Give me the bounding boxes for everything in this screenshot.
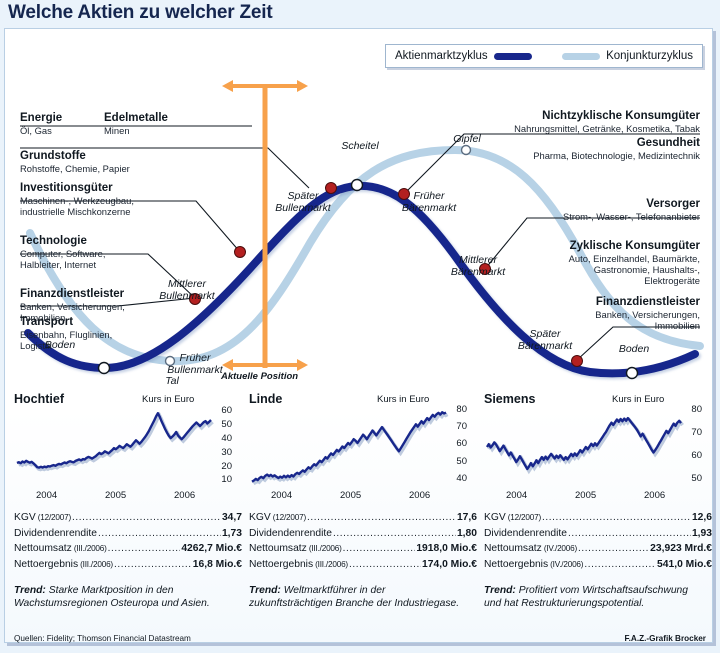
sector-technologie-head: Technologie [20, 235, 105, 248]
x-tick-label: 2006 [174, 490, 195, 501]
stock-chart-hochtief [14, 406, 214, 488]
stat-name: Dividendenrendite [14, 526, 97, 542]
stock-chart-siemens-xticks: 200420052006 [484, 490, 684, 504]
stat-qualifier: (III./2006) [72, 541, 107, 557]
stock-chart-hochtief-xticks: 200420052006 [14, 490, 214, 504]
y-tick-label: 10 [221, 475, 232, 484]
stat-dot-leader: ........................................… [584, 557, 656, 573]
stat-dot-leader: ........................................… [349, 557, 421, 573]
stock-line [487, 418, 681, 469]
stat-value: 541,0 Mio.€ [657, 557, 712, 573]
stat-name: Nettoumsatz [484, 541, 542, 557]
sector-grundstoffe-sub: Rohstoffe, Chemie, Papier [20, 163, 130, 174]
stat-row: KGV(12/2007)............................… [14, 510, 242, 526]
sector-transport-head: Transport [20, 316, 112, 329]
stat-value: 34,7 [222, 510, 242, 526]
phase-boden-left: Boden [30, 339, 90, 351]
sector-grundstoffe: Grundstoffe Rohstoffe, Chemie, Papier [20, 150, 130, 174]
stock-card-siemens-trend: Trend: Profitiert vom Wirtschaftsaufschw… [484, 584, 699, 610]
sector-energie-sub: Öl, Gas [20, 125, 62, 136]
sector-technologie-sub: Computer, Software, Halbleiter, Internet [20, 248, 105, 270]
stock-card-linde-axis-title: Kurs in Euro [377, 394, 429, 405]
stat-value: 1918,0 Mio.€ [416, 541, 477, 557]
stat-value: 12,6 [692, 510, 712, 526]
stat-dot-leader: ........................................… [108, 541, 181, 557]
y-tick-label: 50 [691, 474, 702, 483]
trend-label: Trend: [249, 585, 284, 596]
stock-card-linde-trend: Trend: Weltmarktführer in der zukunftstr… [249, 584, 464, 610]
sector-finanzdienstleister-right-head: Finanzdienstleister [400, 296, 700, 309]
y-tick-label: 50 [221, 420, 232, 429]
stat-dot-leader: ........................................… [578, 541, 649, 557]
y-tick-label: 40 [456, 474, 467, 483]
stock-card-linde-title: Linde [249, 392, 282, 406]
phase-boden-right: Boden [604, 343, 664, 355]
stat-row: Dividendenrendite.......................… [484, 526, 712, 542]
stat-dot-leader: ........................................… [343, 541, 416, 557]
sector-nichtzyklische: Nichtzyklische Konsumgüter Nahrungsmitte… [400, 110, 700, 134]
sector-investitionsgueter-head: Investitionsgüter [20, 182, 134, 195]
stat-row: Nettoergebnis(III./2006)................… [249, 557, 477, 573]
stock-chart-linde [249, 406, 449, 488]
sector-technologie: Technologie Computer, Software, Halbleit… [20, 235, 105, 270]
sector-edelmetalle-sub: Minen [104, 125, 168, 136]
y-tick-label: 30 [221, 448, 232, 457]
x-tick-label: 2004 [271, 490, 292, 501]
phase-mittlerer-baerenmarkt: Mittlerer Bärenmarkt [428, 254, 528, 278]
stat-dot-leader: ........................................… [114, 557, 192, 573]
x-tick-label: 2004 [36, 490, 57, 501]
stock-chart-siemens [484, 406, 684, 488]
y-tick-label: 80 [691, 405, 702, 414]
source-note: Quellen: Fidelity; Thomson Financial Dat… [14, 634, 191, 643]
trend-label: Trend: [14, 585, 49, 596]
stat-name: Dividendenrendite [249, 526, 332, 542]
stat-value: 23,923 Mrd.€ [650, 541, 712, 557]
stat-value: 1,73 [222, 526, 242, 542]
stat-value: 17,6 [457, 510, 477, 526]
phase-spaeter-baerenmarkt: Später Bärenmarkt [500, 328, 590, 352]
phase-frueher-baerenmarkt: Früher Bärenmarkt [384, 190, 474, 214]
stat-qualifier: (IV./2006) [542, 541, 577, 557]
stock-line-shadow [19, 415, 213, 469]
sector-edelmetalle: Edelmetalle Minen [104, 112, 168, 136]
stat-name: Nettoumsatz [249, 541, 307, 557]
stat-row: KGV(12/2007)............................… [249, 510, 477, 526]
phase-scheitel: Scheitel [325, 140, 395, 152]
credit-note: F.A.Z.-Grafik Brocker [625, 634, 706, 643]
sector-nichtzyklische-head: Nichtzyklische Konsumgüter [400, 110, 700, 123]
phase-gipfel: Gipfel [437, 133, 497, 145]
current-position-label: Aktuelle Position [221, 371, 298, 382]
stat-row: Nettoergebnis(IV./2006).................… [484, 557, 712, 573]
phase-mittlerer-bullenmarkt: Mittlerer Bullenmarkt [137, 278, 237, 302]
y-tick-label: 60 [221, 406, 232, 415]
phase-spaeter-bullenmarkt: Später Bullenmarkt [258, 190, 348, 214]
stat-row: Dividendenrendite.......................… [14, 526, 242, 542]
y-tick-label: 20 [221, 462, 232, 471]
stat-value: 174,0 Mio.€ [422, 557, 477, 573]
x-tick-label: 2006 [644, 490, 665, 501]
stock-card-siemens-axis-title: Kurs in Euro [612, 394, 664, 405]
sector-grundstoffe-head: Grundstoffe [20, 150, 130, 163]
stock-line-shadow [489, 420, 683, 471]
x-tick-label: 2005 [575, 490, 596, 501]
x-tick-label: 2005 [340, 490, 361, 501]
stat-dot-leader: ........................................… [307, 510, 456, 526]
x-tick-label: 2006 [409, 490, 430, 501]
stat-dot-leader: ........................................… [333, 526, 456, 542]
stock-card-hochtief-stats: KGV(12/2007)............................… [14, 510, 242, 572]
stat-name: Dividendenrendite [484, 526, 567, 542]
x-tick-label: 2005 [105, 490, 126, 501]
stock-card-hochtief-axis-title: Kurs in Euro [142, 394, 194, 405]
stat-dot-leader: ........................................… [568, 526, 691, 542]
phase-tal: Tal [152, 375, 192, 387]
trend-label: Trend: [484, 585, 519, 596]
sector-finanzdienstleister-left-head: Finanzdienstleister [20, 288, 125, 301]
stat-row: KGV(12/2007)............................… [484, 510, 712, 526]
stock-card-linde-stats: KGV(12/2007)............................… [249, 510, 477, 572]
y-tick-label: 50 [456, 457, 467, 466]
sector-zyklische-head: Zyklische Konsumgüter [400, 240, 700, 253]
stat-qualifier: (12/2007) [506, 510, 541, 526]
stat-name: Nettoergebnis [249, 557, 313, 573]
sector-investitionsgueter: Investitionsgüter Maschinen-, Werkzeugba… [20, 182, 134, 217]
stat-qualifier: (12/2007) [271, 510, 306, 526]
stat-value: 1,93 [692, 526, 712, 542]
y-tick-label: 70 [691, 428, 702, 437]
stat-row: Dividendenrendite.......................… [249, 526, 477, 542]
stat-qualifier: (III./2006) [313, 557, 348, 573]
sector-edelmetalle-head: Edelmetalle [104, 112, 168, 125]
stock-card-siemens-stats: KGV(12/2007)............................… [484, 510, 712, 572]
stat-dot-leader: ........................................… [98, 526, 221, 542]
stat-name: KGV [14, 510, 36, 526]
stat-value: 16,8 Mio.€ [193, 557, 242, 573]
stat-dot-leader: ........................................… [72, 510, 221, 526]
sector-gesundheit-sub: Pharma, Biotechnologie, Medizintechnik [400, 150, 700, 161]
y-tick-label: 80 [456, 405, 467, 414]
stat-row: Nettoumsatz(III./2006)..................… [249, 541, 477, 557]
stock-card-hochtief-trend: Trend: Starke Marktposition in den Wachs… [14, 584, 229, 610]
sector-energie: Energie Öl, Gas [20, 112, 62, 136]
y-tick-label: 70 [456, 422, 467, 431]
stat-row: Nettoumsatz(III./2006)..................… [14, 541, 242, 557]
stat-name: Nettoumsatz [14, 541, 72, 557]
stock-chart-linde-xticks: 200420052006 [249, 490, 449, 504]
stat-name: KGV [249, 510, 271, 526]
stat-row: Nettoumsatz(IV./2006)...................… [484, 541, 712, 557]
stat-value: 1,80 [457, 526, 477, 542]
infographic-page: Welche Aktien zu welcher Zeit Aktienmark… [0, 0, 720, 653]
sector-energie-head: Energie [20, 112, 62, 125]
stat-value: 4262,7 Mio.€ [181, 541, 242, 557]
stat-name: Nettoergebnis [484, 557, 548, 573]
sector-investitionsgueter-sub: Maschinen-, Werkzeugbau, industrielle Mi… [20, 195, 134, 217]
y-tick-label: 60 [456, 439, 467, 448]
stat-dot-leader: ........................................… [542, 510, 691, 526]
stat-name: Nettoergebnis [14, 557, 78, 573]
stat-name: KGV [484, 510, 506, 526]
stock-card-siemens-title: Siemens [484, 392, 535, 406]
sector-finanzdienstleister-right: Finanzdienstleister Banken, Versicherung… [400, 296, 700, 331]
y-tick-label: 60 [691, 451, 702, 460]
stat-qualifier: (III./2006) [307, 541, 342, 557]
title-bar: Welche Aktien zu welcher Zeit [0, 0, 720, 28]
stat-qualifier: (IV./2006) [548, 557, 583, 573]
stat-qualifier: (III./2006) [78, 557, 113, 573]
page-title: Welche Aktien zu welcher Zeit [8, 2, 273, 24]
y-tick-label: 40 [221, 434, 232, 443]
stock-card-hochtief-title: Hochtief [14, 392, 64, 406]
x-tick-label: 2004 [506, 490, 527, 501]
stat-qualifier: (12/2007) [36, 510, 71, 526]
stat-row: Nettoergebnis(III./2006)................… [14, 557, 242, 573]
